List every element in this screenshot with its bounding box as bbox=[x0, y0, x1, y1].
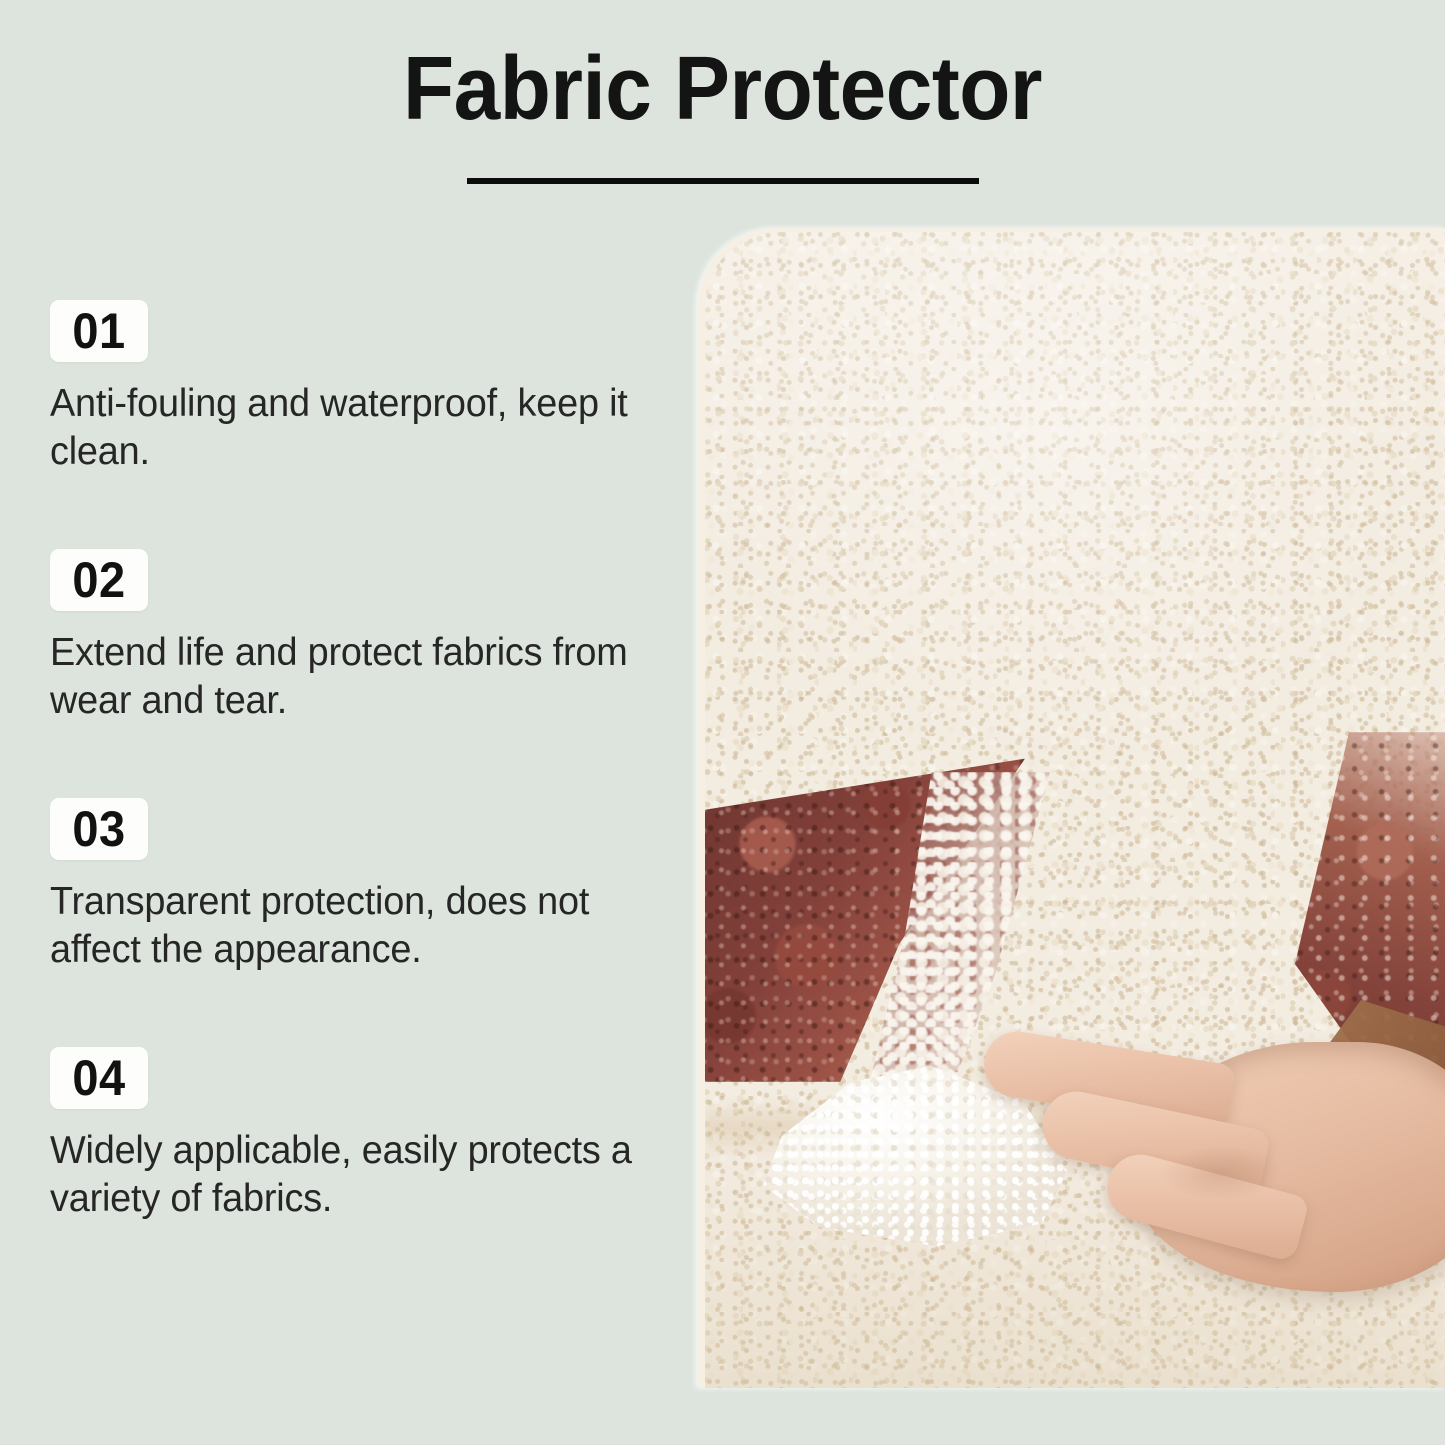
feature-list: 01 Anti-fouling and waterproof, keep it … bbox=[50, 300, 672, 1223]
feature-item: 03 Transparent protection, does not affe… bbox=[50, 798, 672, 974]
product-photo-inner bbox=[705, 232, 1445, 1388]
infographic-page: Fabric Protector 01 Anti-fouling and wat… bbox=[0, 0, 1445, 1445]
title-divider bbox=[467, 178, 979, 184]
hand-knuckle-shadow bbox=[1161, 1146, 1281, 1200]
feature-description: Transparent protection, does not affect … bbox=[50, 878, 651, 974]
feature-number: 01 bbox=[64, 300, 134, 362]
feature-description: Extend life and protect fabrics from wea… bbox=[50, 629, 651, 725]
feature-description: Anti-fouling and waterproof, keep it cle… bbox=[50, 380, 651, 476]
feature-number: 04 bbox=[64, 1047, 134, 1109]
feature-number-badge: 03 bbox=[50, 798, 148, 860]
feature-item: 01 Anti-fouling and waterproof, keep it … bbox=[50, 300, 672, 476]
feature-item: 04 Widely applicable, easily protects a … bbox=[50, 1047, 672, 1223]
header: Fabric Protector bbox=[0, 44, 1445, 184]
hand bbox=[955, 1012, 1445, 1312]
feature-description: Widely applicable, easily protects a var… bbox=[50, 1127, 651, 1223]
feature-number: 02 bbox=[64, 549, 134, 611]
page-title: Fabric Protector bbox=[51, 44, 1395, 134]
feature-number-badge: 04 bbox=[50, 1047, 148, 1109]
feature-item: 02 Extend life and protect fabrics from … bbox=[50, 549, 672, 725]
feature-number: 03 bbox=[64, 798, 134, 860]
feature-number-badge: 01 bbox=[50, 300, 148, 362]
feature-number-badge: 02 bbox=[50, 549, 148, 611]
product-photo bbox=[698, 228, 1445, 1388]
